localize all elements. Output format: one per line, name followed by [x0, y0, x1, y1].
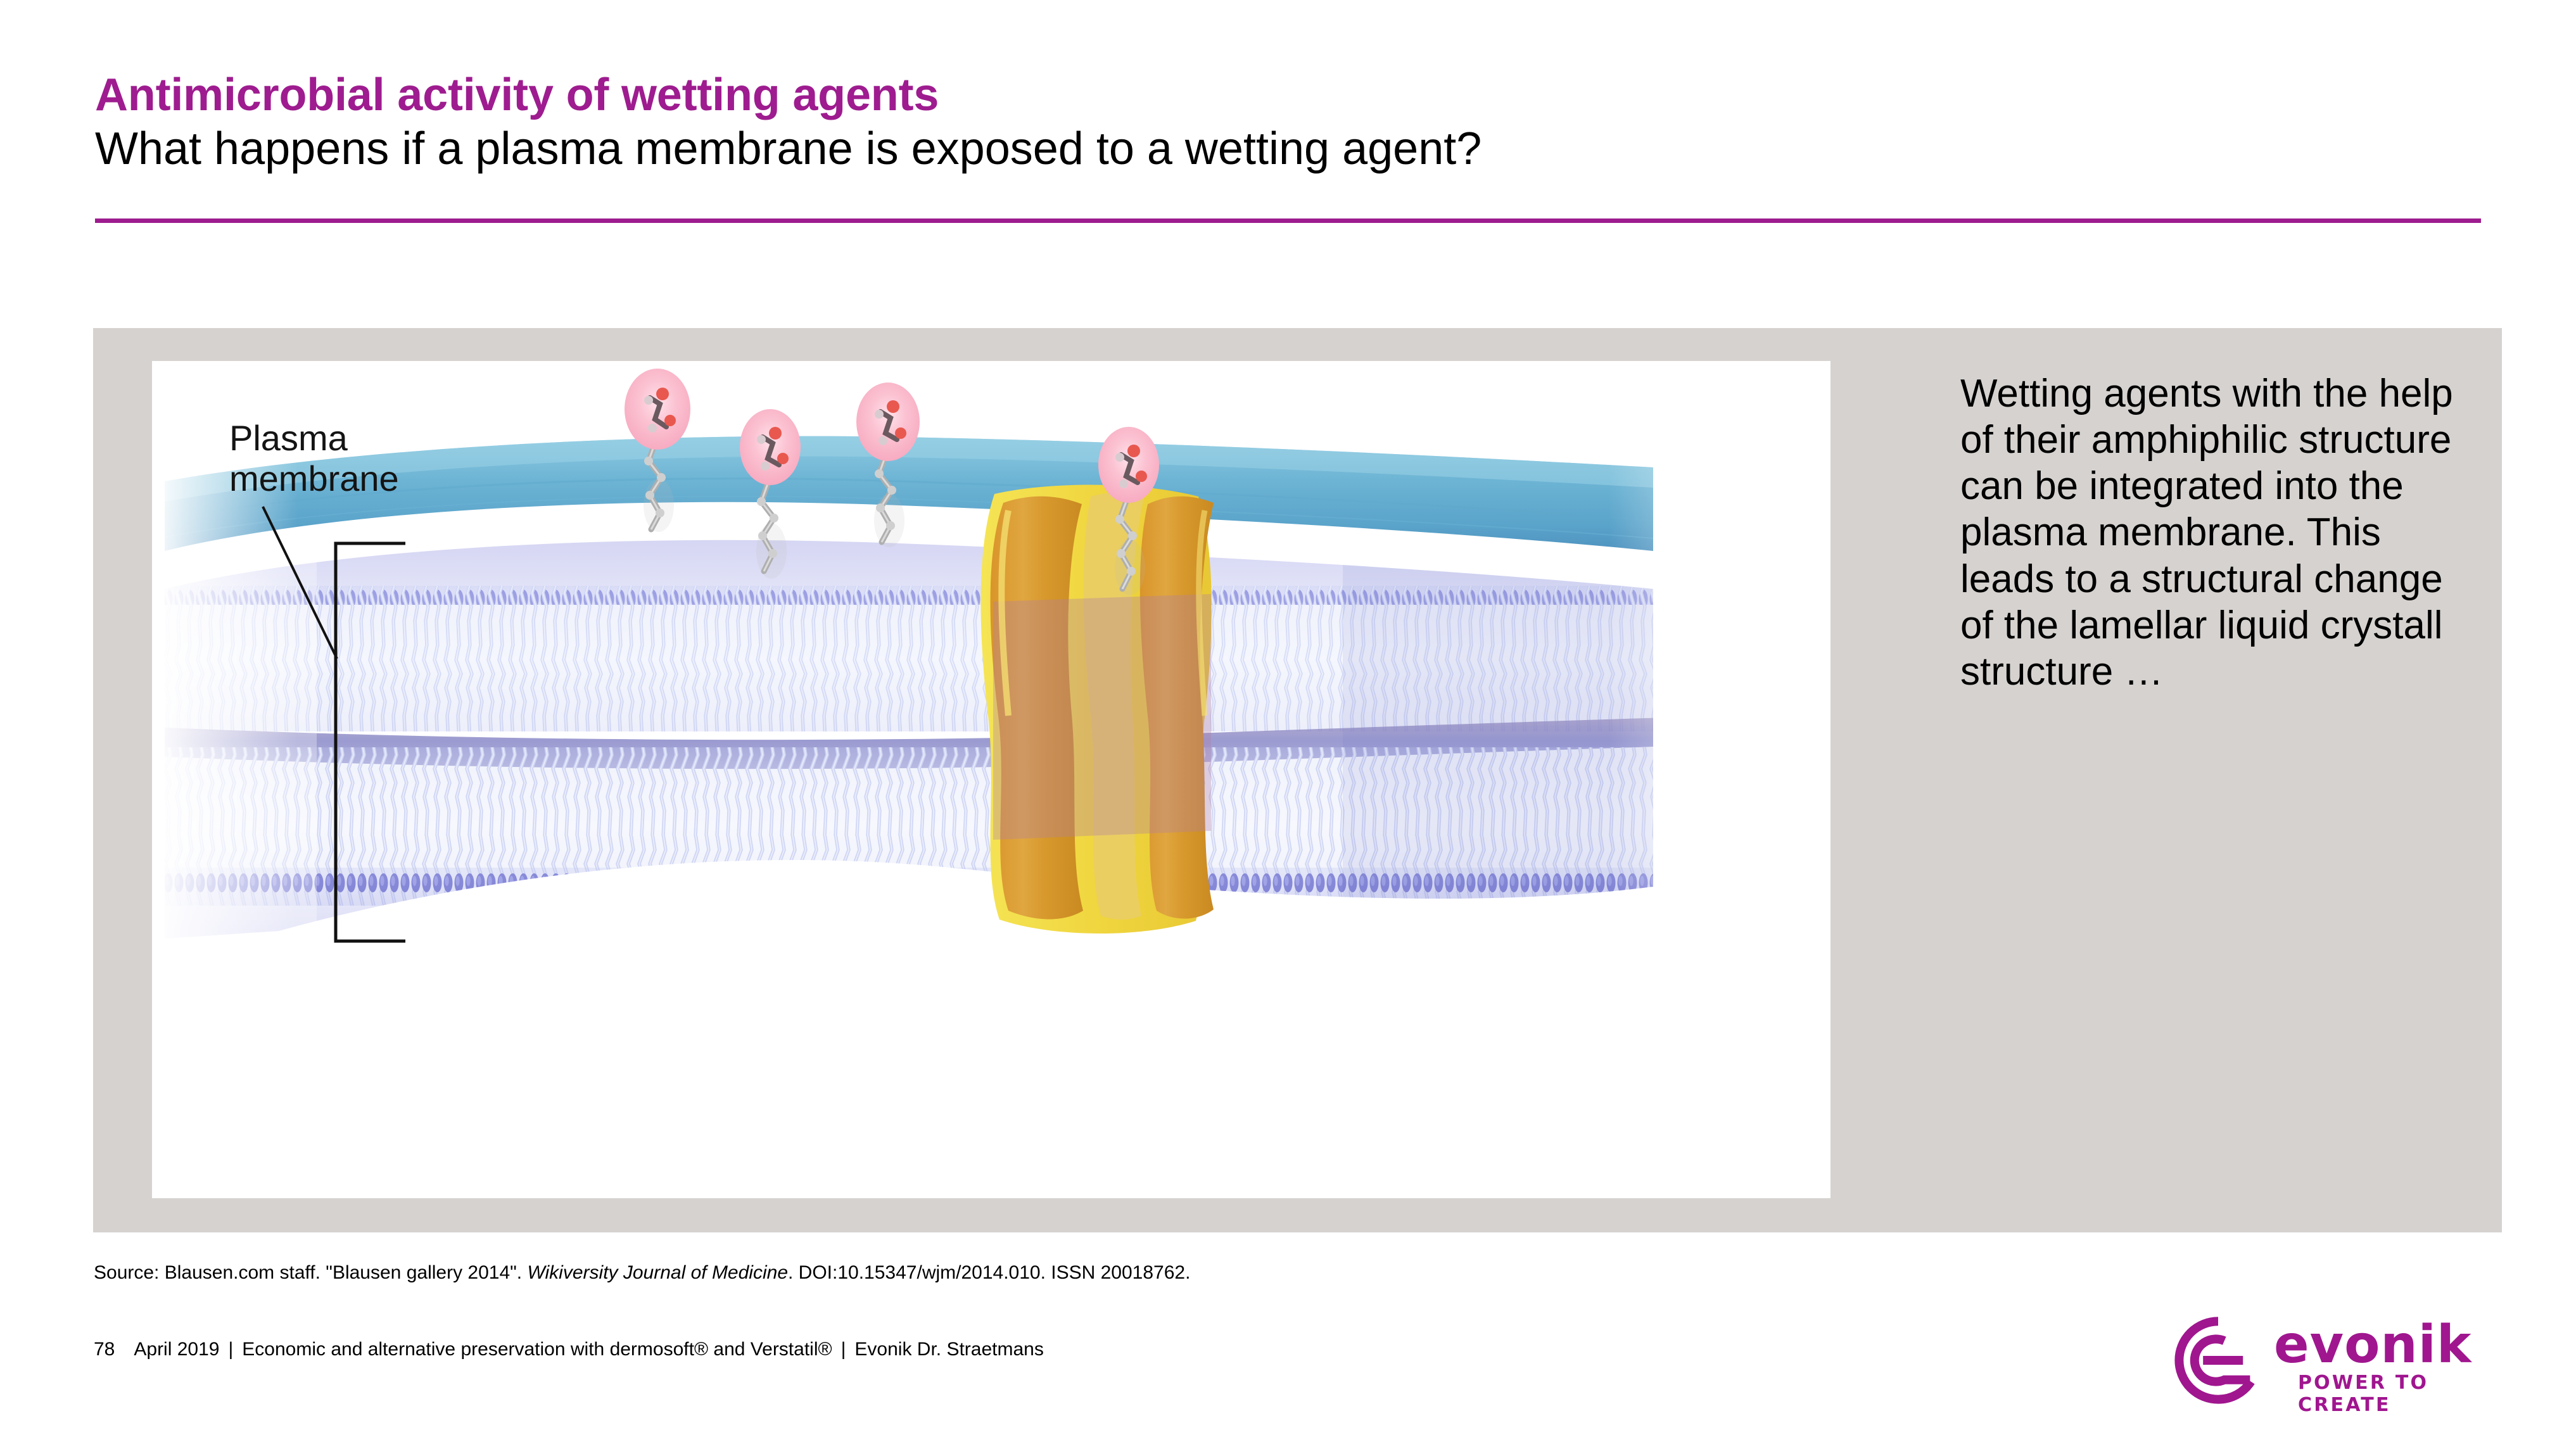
plasma-membrane-label-line2: membrane	[229, 459, 399, 499]
footer-business-unit: Evonik Dr. Straetmans	[854, 1339, 1043, 1360]
evonik-mark-icon	[2174, 1316, 2262, 1405]
plasma-membrane-label: Plasma membrane	[229, 418, 399, 499]
footer-date: April 2019	[134, 1339, 219, 1360]
page-subtitle: What happens if a plasma membrane is exp…	[95, 123, 2483, 175]
plasma-membrane-illustration	[152, 361, 1830, 1198]
title-divider-rule	[95, 218, 2481, 223]
footer-separator: |	[228, 1339, 233, 1360]
slide-header: Antimicrobial activity of wetting agents…	[95, 70, 2483, 174]
plasma-membrane-label-line1: Plasma	[229, 418, 399, 459]
page-title: Antimicrobial activity of wetting agents	[95, 70, 2483, 121]
source-citation: Source: Blausen.com staff. "Blausen gall…	[94, 1262, 1190, 1284]
footer-separator: |	[841, 1339, 846, 1360]
figure-panel: Plasma membrane	[152, 361, 1830, 1198]
source-suffix: . DOI:10.15347/wjm/2014.010. ISSN 200187…	[788, 1262, 1190, 1283]
footer-deck-title: Economic and alternative preservation wi…	[242, 1339, 832, 1360]
evonik-tagline: POWER TO CREATE	[2298, 1372, 2516, 1416]
evonik-logo: evonik POWER TO CREATE	[2174, 1316, 2516, 1405]
source-prefix: Source: Blausen.com staff. "Blausen gall…	[94, 1262, 527, 1283]
footer-page-number: 78	[94, 1339, 115, 1360]
evonik-wordmark: evonik	[2274, 1315, 2471, 1375]
side-body-text: Wetting agents with the help of their am…	[1960, 370, 2461, 695]
slide-footer: 78April 2019|Economic and alternative pr…	[94, 1339, 1044, 1360]
source-journal: Wikiversity Journal of Medicine	[527, 1262, 788, 1283]
transmembrane-protein	[980, 484, 1214, 933]
